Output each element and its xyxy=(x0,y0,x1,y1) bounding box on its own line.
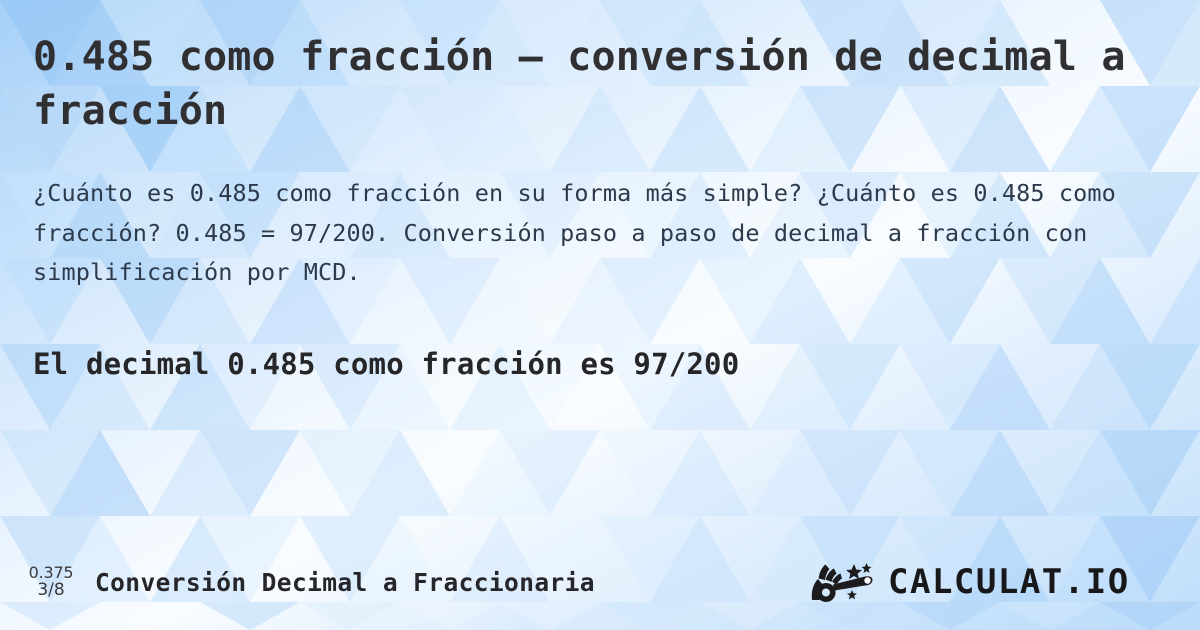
card-footer: 0.375 3/8 Conversión Decimal a Fracciona… xyxy=(0,558,1200,606)
magic-wand-hand-icon xyxy=(810,562,882,602)
answer-statement: El decimal 0.485 como fracción es 97/200 xyxy=(33,344,1153,384)
og-card: 0.485 como fracción – conversión de deci… xyxy=(0,0,1200,630)
calculatio-wordmark: CALCULAT.IO xyxy=(888,562,1178,602)
footer-section-title: Conversión Decimal a Fraccionaria xyxy=(95,568,595,597)
footer-left-group: 0.375 3/8 Conversión Decimal a Fracciona… xyxy=(20,559,595,605)
page-description: ¿Cuánto es 0.485 como fracción en su for… xyxy=(33,174,1148,293)
calculatio-logo[interactable]: CALCULAT.IO CALCULAT.IO xyxy=(810,562,1178,602)
decimal-fraction-icon-fraction: 3/8 xyxy=(37,581,64,600)
svg-text:CALCULAT.IO: CALCULAT.IO xyxy=(888,562,1130,602)
page-title: 0.485 como fracción – conversión de deci… xyxy=(33,30,1153,138)
card-content: 0.485 como fracción – conversión de deci… xyxy=(0,0,1200,630)
decimal-fraction-icon-decimal: 0.375 xyxy=(29,564,74,582)
decimal-fraction-icon: 0.375 3/8 xyxy=(20,559,82,605)
